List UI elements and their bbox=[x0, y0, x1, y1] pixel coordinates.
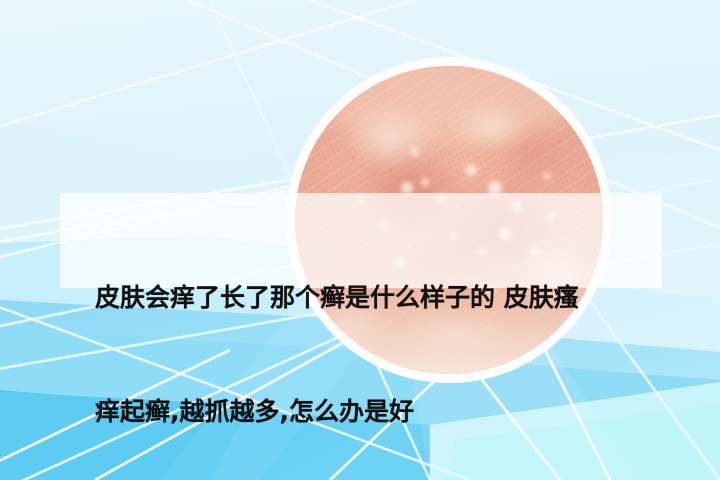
article-title: 皮肤会痒了长了那个癣是什么样子的 皮肤瘙 痒起癣,越抓越多,怎么办是好 bbox=[95, 203, 640, 480]
article-title-line-1: 皮肤会痒了长了那个癣是什么样子的 皮肤瘙 bbox=[95, 279, 640, 317]
thumbnail-canvas: 皮肤会痒了长了那个癣是什么样子的 皮肤瘙 痒起癣,越抓越多,怎么办是好 bbox=[0, 0, 720, 480]
article-title-line-2: 痒起癣,越抓越多,怎么办是好 bbox=[95, 393, 640, 431]
